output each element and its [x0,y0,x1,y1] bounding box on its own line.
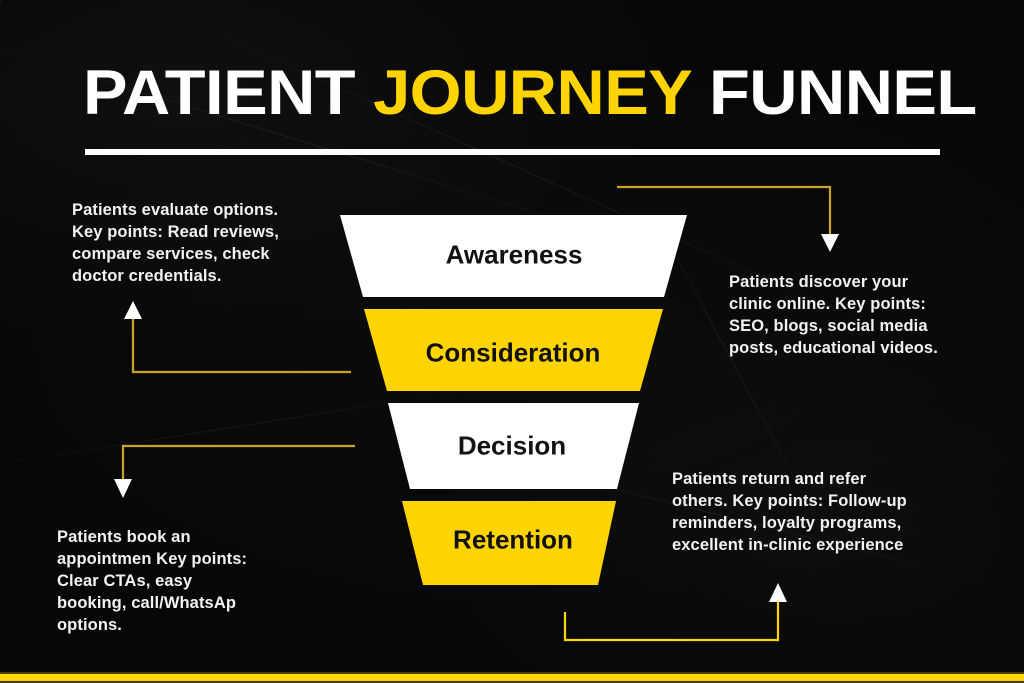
callout-retention: Patients return and refer others. Key po… [672,469,952,557]
callout-line: Patients book an [57,527,325,549]
callout-awareness: Patients discover your clinic online. Ke… [729,272,991,360]
callout-decision: Patients book an appointmen Key points: … [57,527,325,637]
callout-line: Patients return and refer [672,469,952,491]
infographic-canvas: PATIENT JOURNEY FUNNEL [0,0,1024,683]
callout-line: options. [57,615,325,637]
callout-line: clinic online. Key points: [729,294,991,316]
callout-line: compare services, check [72,244,332,266]
callout-line: doctor credentials. [72,266,332,288]
callout-line: Key points: Read reviews, [72,222,332,244]
connector-retention [565,583,787,640]
arrow-up-icon [124,301,142,319]
callout-line: posts, educational videos. [729,338,991,360]
callout-consideration: Patients evaluate options. Key points: R… [72,200,332,288]
callout-line: Clear CTAs, easy [57,571,325,593]
funnel-label-retention: Retention [453,525,573,556]
arrow-up-icon [769,583,787,602]
callout-line: others. Key points: Follow-up [672,491,952,513]
arrow-down-icon [114,479,132,498]
connector-decision [114,446,355,498]
callout-line: appointmen Key points: [57,549,325,571]
callout-line: booking, call/WhatsAp [57,593,325,615]
callout-line: Patients evaluate options. [72,200,332,222]
funnel-label-consideration: Consideration [426,338,601,369]
bottom-accent-bar [0,672,1024,683]
callout-line: excellent in-clinic experience [672,535,952,557]
callout-line: SEO, blogs, social media [729,316,991,338]
funnel-label-awareness: Awareness [446,240,583,271]
connector-consideration [124,301,351,372]
callout-line: Patients discover your [729,272,991,294]
arrow-down-icon [821,234,839,252]
funnel-label-decision: Decision [458,431,566,462]
callout-line: reminders, loyalty programs, [672,513,952,535]
